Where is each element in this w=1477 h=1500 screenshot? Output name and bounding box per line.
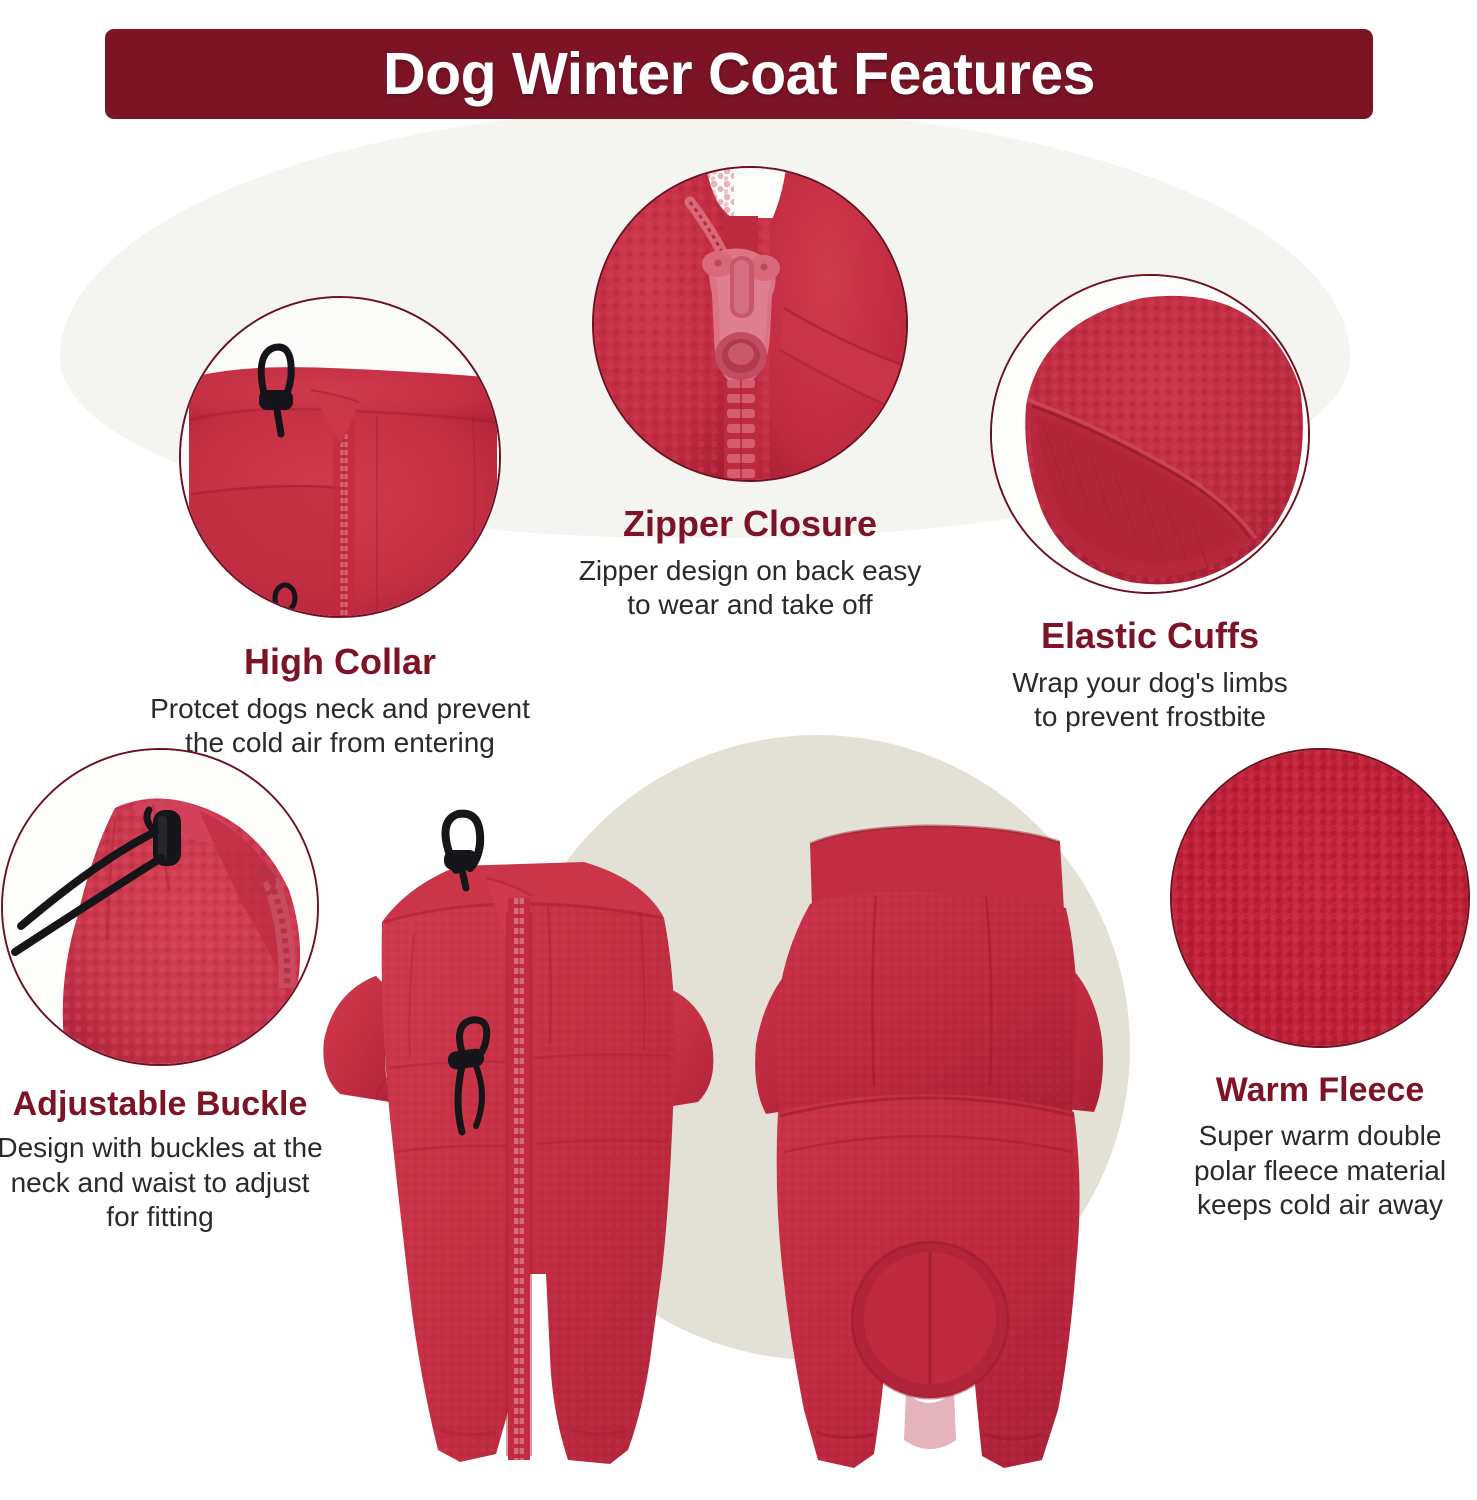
desc-line: neck and waist to adjust — [0, 1166, 330, 1200]
feature-title-warm-fleece: Warm Fleece — [1155, 1072, 1477, 1109]
desc-line: polar fleece material — [1155, 1154, 1477, 1188]
page-title: Dog Winter Coat Features — [383, 45, 1095, 104]
desc-line: to wear and take off — [520, 588, 980, 622]
desc-line: Wrap your dog's limbs — [920, 666, 1380, 700]
feature-title-high-collar: High Collar — [100, 642, 580, 682]
feature-high-collar: High Collar Protcet dogs neck and preven… — [100, 296, 580, 760]
feature-title-elastic-cuffs: Elastic Cuffs — [920, 616, 1380, 656]
feature-description-elastic-cuffs: Wrap your dog's limbs to prevent frostbi… — [920, 666, 1380, 734]
desc-line: Design with buckles at the — [0, 1131, 330, 1165]
buckle-closeup-photo — [1, 748, 319, 1066]
dog-coat-front-view-photo — [310, 800, 730, 1500]
desc-line: for fitting — [0, 1200, 330, 1234]
desc-line: Protcet dogs neck and prevent — [100, 692, 580, 726]
feature-title-adjustable-buckle: Adjustable Buckle — [0, 1086, 330, 1123]
desc-line: to prevent frostbite — [920, 700, 1380, 734]
feature-elastic-cuffs: Elastic Cuffs Wrap your dog's limbs to p… — [920, 274, 1380, 734]
desc-line: Super warm double — [1155, 1119, 1477, 1153]
feature-warm-fleece: Warm Fleece Super warm double polar flee… — [1155, 748, 1477, 1222]
collar-closeup-photo — [179, 296, 501, 618]
title-banner: Dog Winter Coat Features — [105, 29, 1373, 119]
feature-description-adjustable-buckle: Design with buckles at the neck and wais… — [0, 1131, 330, 1233]
feature-zipper-closure: Zipper Closure Zipper design on back eas… — [520, 166, 980, 622]
dog-coat-back-view-photo — [750, 800, 1110, 1500]
feature-adjustable-buckle: Adjustable Buckle Design with buckles at… — [0, 748, 330, 1234]
feature-description-warm-fleece: Super warm double polar fleece material … — [1155, 1119, 1477, 1221]
feature-title-zipper-closure: Zipper Closure — [520, 504, 980, 544]
zipper-closeup-photo — [592, 166, 908, 482]
fleece-texture-photo — [1170, 748, 1470, 1048]
feature-description-zipper-closure: Zipper design on back easy to wear and t… — [520, 554, 980, 622]
infographic-canvas: Dog Winter Coat Features — [0, 0, 1477, 1500]
desc-line: keeps cold air away — [1155, 1188, 1477, 1222]
cuff-closeup-photo — [990, 274, 1310, 594]
desc-line: Zipper design on back easy — [520, 554, 980, 588]
